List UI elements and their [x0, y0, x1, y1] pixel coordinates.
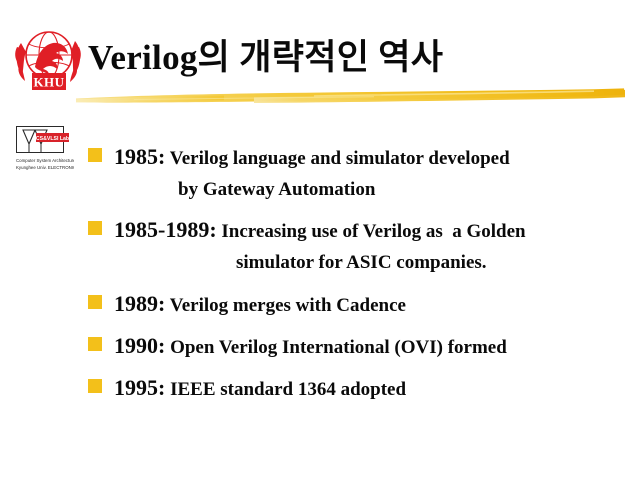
bullet-square-icon [88, 221, 102, 235]
lab-logo-badge-text: CS&VLSI Lab [36, 136, 69, 142]
bullet-year: 1985-1989: [114, 217, 217, 242]
lab-logo-caption-1: Computer System Architecture [16, 158, 74, 163]
list-item: 1985: Verilog language and simulator dev… [88, 141, 628, 205]
bullet-year: 1985: [114, 144, 165, 169]
bullet-text: Open Verilog International (OVI) formed [165, 337, 506, 358]
svg-text:KHU: KHU [33, 75, 64, 90]
list-item: 1990: Open Verilog International (OVI) f… [88, 330, 628, 363]
bullet-list: 1985: Verilog language and simulator dev… [88, 141, 628, 409]
list-item: 1995: IEEE standard 1364 adopted [88, 372, 628, 405]
lab-logo: CS&VLSI Lab Computer System Architecture… [14, 124, 74, 180]
bullet-line-primary: 1995: IEEE standard 1364 adopted [114, 372, 628, 405]
bullet-text: Increasing use of Verilog as a Golden [217, 221, 526, 242]
page-title: Verilog의 개략적인 역사 [88, 36, 443, 80]
bullet-square-icon [88, 295, 102, 309]
bullet-continuation: simulator for ASIC companies. [114, 247, 628, 278]
lab-logo-caption-2: Kyunghee Univ. ELECTRONICS [16, 165, 74, 170]
bullet-text: Verilog merges with Cadence [165, 295, 406, 316]
bullet-line-primary: 1989: Verilog merges with Cadence [114, 288, 628, 321]
khu-logo: KHU [13, 25, 85, 93]
bullet-line-primary: 1985: Verilog language and simulator dev… [114, 141, 628, 174]
bullet-year: 1989: [114, 291, 165, 316]
slide-canvas: KHU Verilog의 개략적인 역사 [0, 0, 640, 480]
gold-brush-underline-icon [74, 86, 626, 110]
bullet-square-icon [88, 148, 102, 162]
bullet-text: Verilog language and simulator developed [165, 148, 509, 169]
bullet-continuation: by Gateway Automation [114, 174, 628, 205]
bullet-square-icon [88, 337, 102, 351]
bullet-text: IEEE standard 1364 adopted [165, 379, 406, 400]
bullet-year: 1995: [114, 375, 165, 400]
bullet-line-primary: 1990: Open Verilog International (OVI) f… [114, 330, 628, 363]
bullet-square-icon [88, 379, 102, 393]
bullet-line-primary: 1985-1989: Increasing use of Verilog as … [114, 214, 628, 247]
list-item: 1989: Verilog merges with Cadence [88, 288, 628, 321]
bullet-year: 1990: [114, 333, 165, 358]
list-item: 1985-1989: Increasing use of Verilog as … [88, 214, 628, 278]
